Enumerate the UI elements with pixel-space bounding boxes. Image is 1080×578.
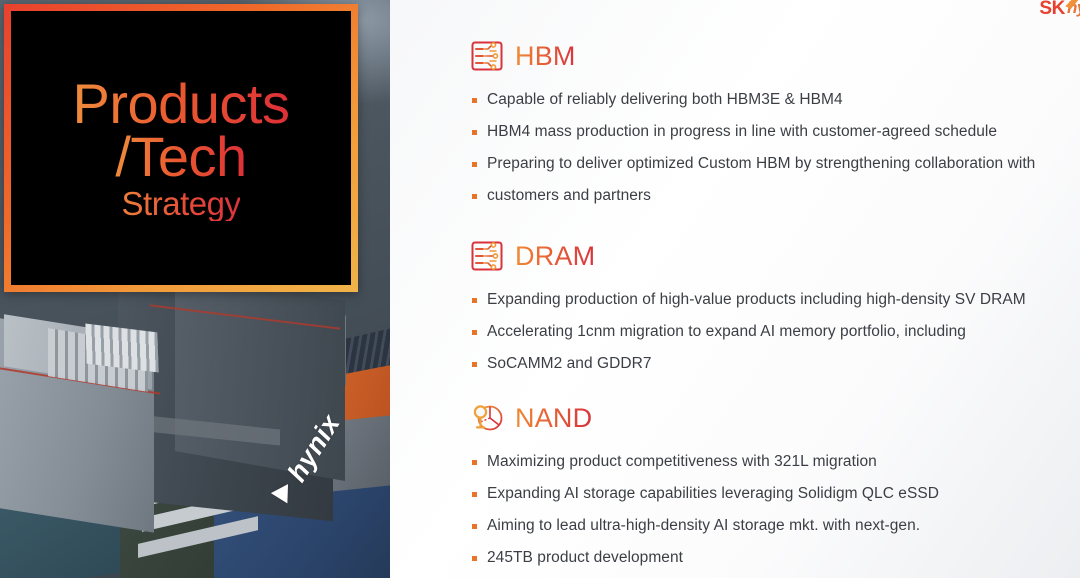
section-dram: DRAM Expanding production of high-value … (470, 236, 1080, 380)
section-title-hbm: HBM (515, 41, 576, 72)
page-title-line-2: /Tech (115, 128, 246, 185)
page-title-line-1: Products (73, 75, 290, 132)
section-nand: NAND Maximizing product competitiveness … (470, 398, 1080, 574)
bullet-item: Aiming to lead ultra-high-density AI sto… (470, 510, 1080, 542)
bullet-list-nand: Maximizing product competitiveness with … (470, 446, 1080, 574)
bullet-continuation: 245TB product development (470, 542, 1080, 574)
section-hbm: HBM Capable of reliably delivering both … (470, 36, 1080, 212)
section-header-nand: NAND (470, 398, 1080, 438)
chip-circuit-icon (470, 39, 504, 73)
sk-hynix-brand-logo: SK hy (1039, 0, 1080, 20)
bullet-item: Accelerating 1cnm migration to expand AI… (470, 316, 1080, 348)
bullet-item: Preparing to deliver optimized Custom HB… (470, 148, 1080, 180)
title-card-inner: Products /Tech Strategy (11, 11, 351, 285)
chip-circuit-icon (470, 239, 504, 273)
bullet-item: HBM4 mass production in progress in line… (470, 116, 1080, 148)
section-header-dram: DRAM (470, 236, 1080, 276)
brand-sk-text: SK (1039, 0, 1065, 20)
bullet-item: Expanding AI storage capabilities levera… (470, 478, 1080, 510)
bullet-continuation: customers and partners (470, 180, 1080, 212)
bullet-list-hbm: Capable of reliably delivering both HBM3… (470, 84, 1080, 212)
storage-disc-icon (470, 401, 504, 435)
slide-root: ⯈ hynix Products /Tech Strategy (0, 0, 1080, 578)
bullet-continuation: SoCAMM2 and GDDR7 (470, 348, 1080, 380)
bullet-list-dram: Expanding production of high-value produ… (470, 284, 1080, 380)
section-header-hbm: HBM (470, 36, 1080, 76)
photo-fab-building-dark (175, 271, 345, 481)
bullet-item: Maximizing product competitiveness with … (470, 446, 1080, 478)
title-card: Products /Tech Strategy (4, 4, 358, 292)
content-panel: HBM Capable of reliably delivering both … (390, 0, 1080, 578)
bullet-item: Capable of reliably delivering both HBM3… (470, 84, 1080, 116)
left-visual-panel: ⯈ hynix Products /Tech Strategy (0, 0, 390, 578)
page-title-line-3: Strategy (122, 187, 241, 221)
section-title-dram: DRAM (515, 241, 595, 272)
bullet-item: Expanding production of high-value produ… (470, 284, 1080, 316)
section-title-nand: NAND (515, 403, 592, 434)
